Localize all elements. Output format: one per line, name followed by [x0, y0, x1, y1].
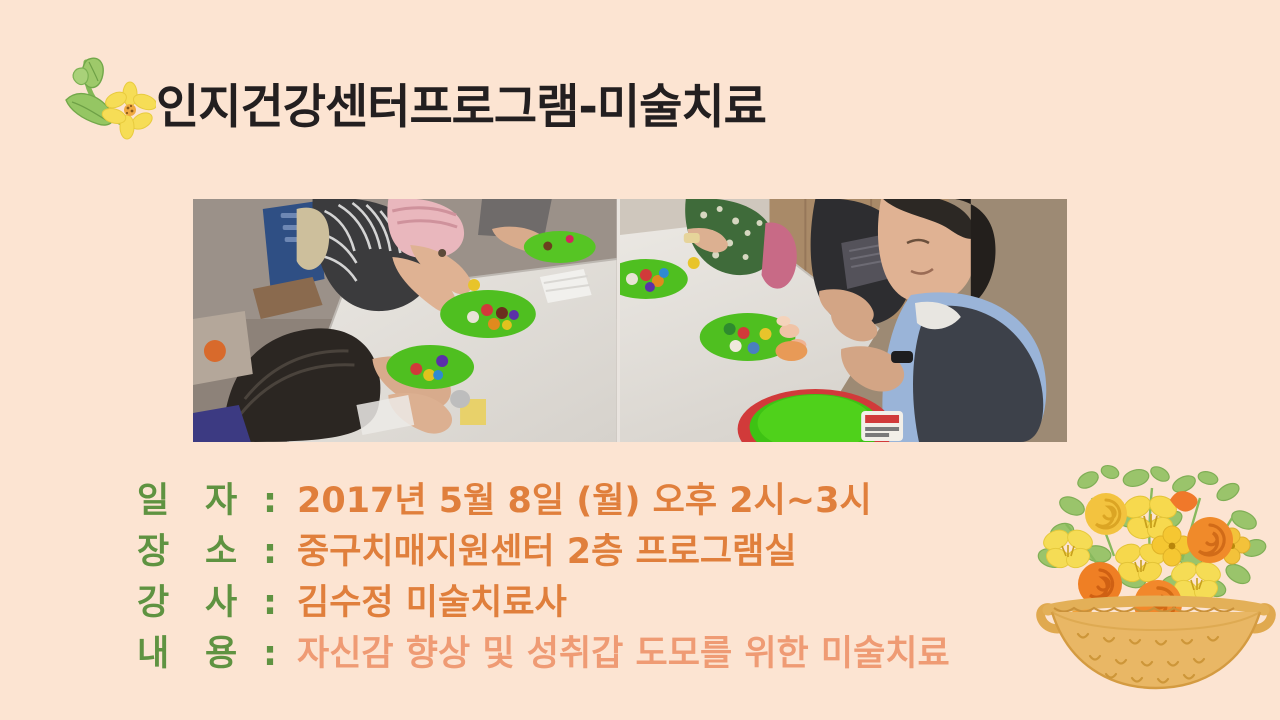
label-char-2: 자 — [205, 484, 263, 519]
info-line-place: 장소: 중구치매지원센터 2층 프로그램실 — [137, 535, 1137, 586]
info-value-instructor: 김수정 미술치료사 — [297, 586, 567, 621]
photo-strip — [193, 199, 1067, 442]
label-colon: : — [263, 637, 293, 672]
info-label-place: 장소: — [137, 535, 293, 570]
info-label-instructor: 강사: — [137, 586, 293, 621]
photo-left — [193, 199, 617, 442]
photo-right — [620, 199, 1067, 442]
label-colon: : — [263, 535, 293, 570]
label-char-1: 강 — [137, 586, 205, 621]
info-label-date: 일자: — [137, 484, 293, 519]
label-char-1: 내 — [137, 637, 205, 672]
info-line-instructor: 강사: 김수정 미술치료사 — [137, 586, 1137, 637]
slide-canvas: 인지건강센터프로그램-미술치료 — [0, 0, 1280, 720]
info-value-place: 중구치매지원센터 2층 프로그램실 — [297, 535, 797, 570]
label-char-1: 장 — [137, 535, 205, 570]
flower-sprig-icon — [52, 48, 156, 140]
title-row: 인지건강센터프로그램-미술치료 — [52, 48, 1152, 158]
info-label-content: 내용: — [137, 637, 293, 672]
info-value-date: 2017년 5월 8일 (월) 오후 2시~3시 — [297, 484, 872, 519]
label-colon: : — [263, 586, 293, 621]
info-value-content: 자신감 향상 및 성취갑 도모를 위한 미술치료 — [297, 637, 950, 672]
flower-basket-icon — [1032, 458, 1280, 706]
label-char-2: 소 — [205, 535, 263, 570]
label-char-2: 사 — [205, 586, 263, 621]
page-title: 인지건강센터프로그램-미술치료 — [156, 84, 766, 131]
label-char-2: 용 — [205, 637, 263, 672]
info-line-content: 내용: 자신감 향상 및 성취갑 도모를 위한 미술치료 — [137, 637, 1137, 688]
label-char-1: 일 — [137, 484, 205, 519]
info-line-date: 일자: 2017년 5월 8일 (월) 오후 2시~3시 — [137, 484, 1137, 535]
info-block: 일자: 2017년 5월 8일 (월) 오후 2시~3시 장소: 중구치매지원센… — [137, 484, 1137, 688]
label-colon: : — [263, 484, 293, 519]
